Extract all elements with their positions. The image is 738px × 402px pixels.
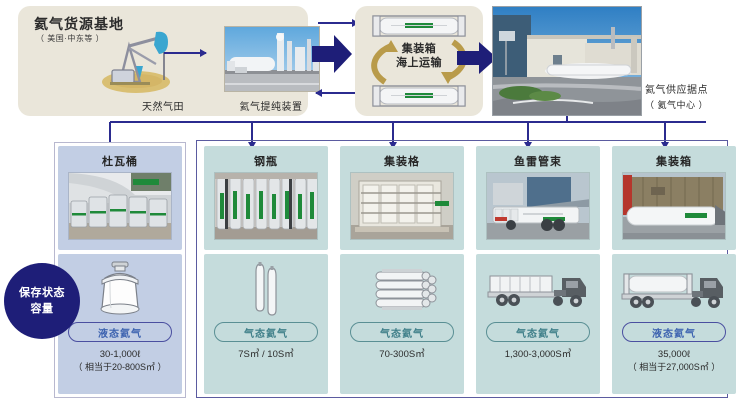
capacity-bundle: 70-300S㎥ bbox=[340, 348, 464, 361]
capacity-bundle-main: 70-300S㎥ bbox=[340, 348, 464, 361]
capacity-dewar-sub: （ 相当于20-800S㎥ ） bbox=[58, 361, 182, 374]
state-badge-bundle: 气态氦气 bbox=[350, 322, 454, 342]
capacity-cylinder-main: 7S㎥ / 10S㎥ bbox=[204, 348, 328, 361]
column-iso-container-head: 集装箱 bbox=[612, 146, 736, 250]
capacity-tube-trailer-main: 1,300-3,000S㎥ bbox=[476, 348, 600, 361]
column-dewar[interactable]: 杜瓦桶 bbox=[58, 146, 182, 394]
column-cylinder-title: 钢瓶 bbox=[204, 153, 328, 169]
column-tube-trailer-title: 鱼雷管束 bbox=[476, 153, 600, 169]
arrow-right-icon-to-shipping bbox=[318, 22, 358, 24]
tube-trailer-icon bbox=[476, 260, 600, 320]
state-badge-cylinder: 气态氦气 bbox=[214, 322, 318, 342]
capacity-cylinder: 7S㎥ / 10S㎥ bbox=[204, 348, 328, 361]
badge-line2: 容量 bbox=[31, 301, 54, 317]
tube-trailer-photo bbox=[486, 172, 590, 240]
hub-label-main: 氦气供应据点 bbox=[645, 84, 737, 98]
column-bundle-head: 集装格 bbox=[340, 146, 464, 250]
state-badge-iso-container: 液态氦气 bbox=[622, 322, 726, 342]
iso-container-photo bbox=[622, 172, 726, 240]
capacity-dewar: 30-1,000ℓ （ 相当于20-800S㎥ ） bbox=[58, 348, 182, 374]
hub-label-sub: （ 氦气中心 ） bbox=[645, 98, 737, 112]
tanker-trailer-icon bbox=[612, 260, 736, 320]
column-tube-trailer-body: 气态氦气 1,300-3,000S㎥ bbox=[476, 254, 600, 394]
capacity-iso-container-sub: （ 相当于27,000S㎥ ） bbox=[612, 361, 736, 374]
source-subtitle: （ 美国·中东等 ） bbox=[36, 33, 104, 44]
gas-cylinders-photo bbox=[214, 172, 318, 240]
column-bundle-body: 气态氦气 70-300S㎥ bbox=[340, 254, 464, 394]
state-badge-tube-trailer: 气态氦气 bbox=[486, 322, 590, 342]
badge-line1: 保存状态 bbox=[19, 285, 65, 301]
column-iso-container-body: 液态氦气 35,000ℓ （ 相当于27,000S㎥ ） bbox=[612, 254, 736, 394]
capacity-tube-trailer: 1,300-3,000S㎥ bbox=[476, 348, 600, 361]
oil-pump-icon bbox=[96, 24, 182, 96]
column-bundle-title: 集装格 bbox=[340, 153, 464, 169]
diagram-canvas: 氦气货源基地 （ 美国·中东等 ） 天然气田 bbox=[0, 0, 738, 402]
column-iso-container[interactable]: 集装箱 bbox=[612, 146, 736, 394]
helium-center-photo bbox=[492, 6, 642, 116]
arrow-right-icon bbox=[164, 52, 206, 54]
dewar-vessels-photo bbox=[68, 172, 172, 240]
state-badge-dewar: 液态氦气 bbox=[68, 322, 172, 342]
capacity-dewar-main: 30-1,000ℓ bbox=[58, 348, 182, 361]
column-cylinder-head: 钢瓶 bbox=[204, 146, 328, 250]
column-dewar-title: 杜瓦桶 bbox=[58, 153, 182, 169]
column-cylinder[interactable]: 钢瓶 bbox=[204, 146, 328, 394]
column-iso-container-title: 集装箱 bbox=[612, 153, 736, 169]
big-arrow-right-icon bbox=[310, 32, 354, 76]
column-dewar-head: 杜瓦桶 bbox=[58, 146, 182, 250]
cylinder-bundle-photo bbox=[350, 172, 454, 240]
capacity-iso-container-main: 35,000ℓ bbox=[612, 348, 736, 361]
iso-tank-container-icon bbox=[371, 14, 467, 38]
gasfield-label: 天然气田 bbox=[118, 98, 208, 113]
purification-plant-photo bbox=[224, 26, 320, 92]
purifier-label: 氦气提纯装置 bbox=[216, 98, 326, 113]
storage-state-badge: 保存状态 容量 bbox=[4, 263, 80, 339]
column-cylinder-body: 气态氦气 7S㎥ / 10S㎥ bbox=[204, 254, 328, 394]
column-bundle[interactable]: 集装格 bbox=[340, 146, 464, 394]
arrow-left-icon-from-shipping bbox=[316, 92, 356, 94]
source-panel: 氦气货源基地 （ 美国·中东等 ） 天然气田 bbox=[18, 6, 308, 116]
column-tube-trailer-head: 鱼雷管束 bbox=[476, 146, 600, 250]
hub-label: 氦气供应据点 （ 氦气中心 ） bbox=[645, 84, 737, 112]
column-dewar-body: 液态氦气 30-1,000ℓ （ 相当于20-800S㎥ ） bbox=[58, 254, 182, 394]
cylinder-bundle-icon bbox=[340, 260, 464, 320]
column-tube-trailer[interactable]: 鱼雷管束 bbox=[476, 146, 600, 394]
gas-cylinder-pair-icon bbox=[204, 260, 328, 320]
capacity-iso-container: 35,000ℓ （ 相当于27,000S㎥ ） bbox=[612, 348, 736, 374]
iso-tank-container-icon-2 bbox=[371, 84, 467, 108]
